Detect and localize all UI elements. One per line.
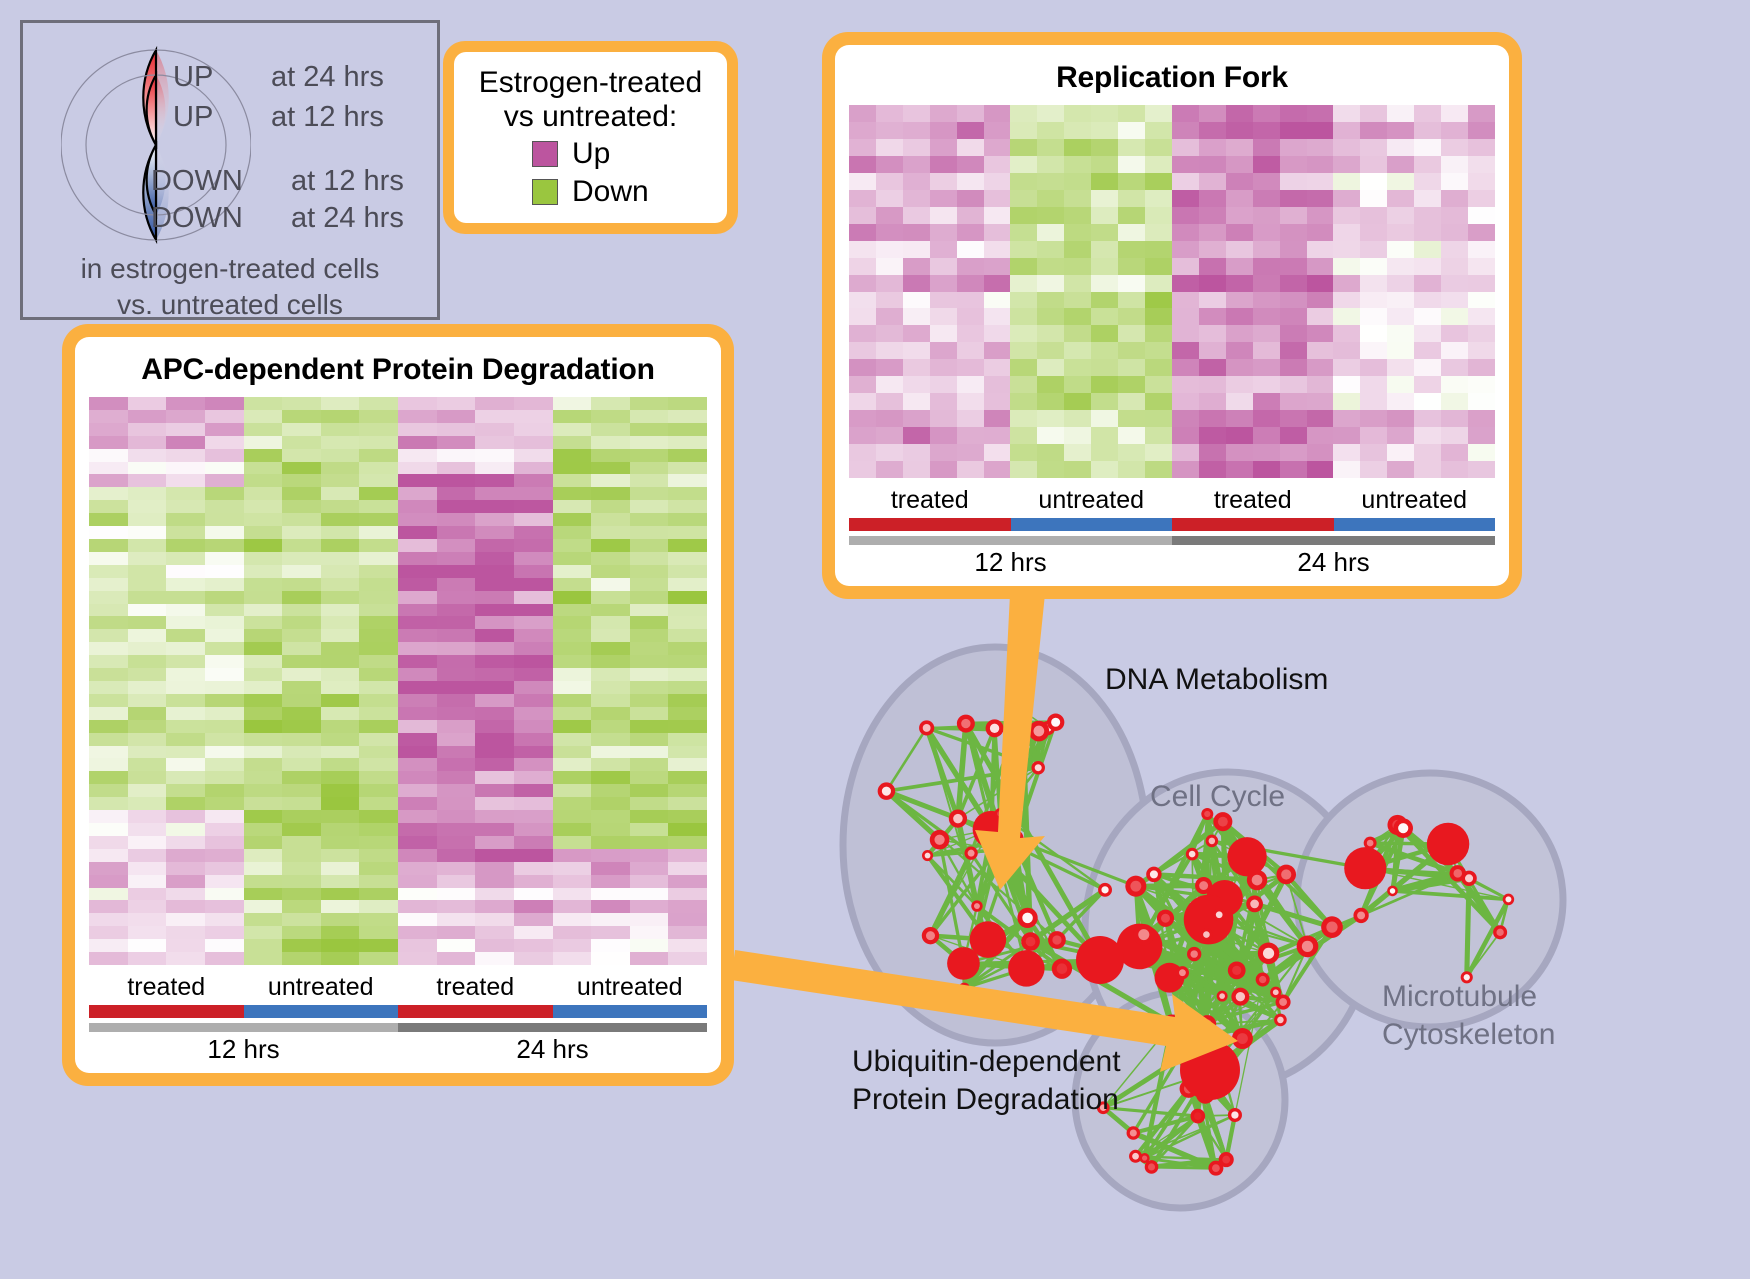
heatmap-cell: [876, 105, 903, 122]
node-inner-core: [1203, 1019, 1212, 1028]
network-node[interactable]: [957, 715, 975, 733]
network-node[interactable]: [1008, 950, 1044, 986]
network-node[interactable]: [1393, 818, 1413, 838]
heatmap-cell: [1172, 224, 1199, 241]
node-inner-core: [1250, 900, 1259, 909]
network-node[interactable]: [1181, 1016, 1199, 1034]
heatmap-cell: [1280, 224, 1307, 241]
node-inner-core: [1281, 869, 1291, 879]
heatmap-cell: [166, 849, 205, 862]
heatmap-cell: [668, 746, 707, 759]
node-inner-core: [1398, 823, 1408, 833]
node-inner-core: [1222, 1156, 1230, 1164]
heatmap-cell: [128, 462, 167, 475]
heatmap-cell: [282, 926, 321, 939]
heatmap-cell: [1414, 258, 1441, 275]
heatmap-cell: [1037, 292, 1064, 309]
heatmap-cell: [903, 224, 930, 241]
heatmap-cell: [1199, 461, 1226, 478]
heatmap-cell: [1145, 325, 1172, 342]
heatmap-cell: [244, 784, 283, 797]
network-node[interactable]: [964, 847, 977, 860]
heatmap-cell: [553, 591, 592, 604]
network-node[interactable]: [994, 808, 1005, 819]
heatmap-cell: [668, 952, 707, 965]
heatmap-cell: [398, 720, 437, 733]
heatmap-cell: [1333, 139, 1360, 156]
heatmap-cell: [1226, 342, 1253, 359]
heatmap-cell: [475, 513, 514, 526]
heatmap-cell: [930, 173, 957, 190]
heatmap-cell: [437, 758, 476, 771]
heatmap-cell: [668, 436, 707, 449]
heatmap-cell: [475, 875, 514, 888]
heatmap-cell: [359, 591, 398, 604]
heatmap-cell: [1280, 139, 1307, 156]
heatmap-cell: [1441, 427, 1468, 444]
network-node[interactable]: [1052, 959, 1072, 979]
network-node[interactable]: [1145, 1160, 1159, 1174]
heatmap-cell: [244, 462, 283, 475]
heatmap-cell: [1010, 444, 1037, 461]
heatmap-cell: [553, 474, 592, 487]
network-node[interactable]: [1014, 702, 1030, 718]
heatmap-cell: [89, 616, 128, 629]
condition-bar-treated-12: [89, 1005, 244, 1018]
heatmap-cell: [1307, 461, 1334, 478]
heatmap-cell: [1441, 173, 1468, 190]
network-node[interactable]: [1021, 932, 1040, 951]
heatmap-cell: [1010, 207, 1037, 224]
heatmap-cell: [553, 552, 592, 565]
heatmap-cell: [359, 810, 398, 823]
heatmap-cell: [553, 797, 592, 810]
network-node[interactable]: [1232, 1028, 1253, 1049]
heatmap-cell: [1360, 308, 1387, 325]
heatmap-cell: [591, 668, 630, 681]
heatmap-cell: [1199, 308, 1226, 325]
network-node[interactable]: [1364, 837, 1377, 850]
heatmap-cell: [984, 241, 1011, 258]
heatmap-cell: [475, 900, 514, 913]
heatmap-cell: [1064, 122, 1091, 139]
network-node[interactable]: [1427, 823, 1469, 865]
network-node[interactable]: [1133, 924, 1154, 945]
network-node[interactable]: [1213, 812, 1232, 831]
heatmap-cell: [282, 526, 321, 539]
network-node[interactable]: [1344, 847, 1386, 889]
network-node[interactable]: [1047, 714, 1064, 731]
heatmap-cell: [128, 758, 167, 771]
network-node[interactable]: [1048, 931, 1066, 949]
heatmap-cell: [957, 122, 984, 139]
heatmap-cell: [282, 694, 321, 707]
network-node[interactable]: [1258, 943, 1280, 965]
heatmap-cell: [1226, 325, 1253, 342]
heatmap-cell: [475, 539, 514, 552]
heatmap-cell: [1280, 461, 1307, 478]
network-node[interactable]: [1127, 1126, 1141, 1140]
heatmap-cell: [514, 462, 553, 475]
network-node[interactable]: [1353, 908, 1368, 923]
heatmap-cell: [1414, 105, 1441, 122]
heatmap-cell: [1307, 156, 1334, 173]
heatmap-cell: [359, 604, 398, 617]
heatmap-cell: [475, 862, 514, 875]
heatmap-cell: [475, 449, 514, 462]
heatmap-cell: [359, 771, 398, 784]
network-node[interactable]: [1076, 936, 1124, 984]
heatmap-cell: [984, 122, 1011, 139]
heatmap-cell: [630, 629, 669, 642]
network-node[interactable]: [1157, 910, 1174, 927]
heatmap-cell: [1199, 275, 1226, 292]
network-node[interactable]: [1031, 761, 1044, 774]
heatmap-cell: [244, 513, 283, 526]
heatmap-cell: [244, 616, 283, 629]
heatmap-cell: [1414, 207, 1441, 224]
heatmap-cell: [1307, 275, 1334, 292]
heatmap-cell: [1333, 190, 1360, 207]
heatmap-cell: [957, 292, 984, 309]
heatmap-cell: [244, 875, 283, 888]
node-inner-core: [1018, 706, 1026, 714]
network-node[interactable]: [930, 830, 950, 850]
heatmap-cell: [398, 707, 437, 720]
heatmap-cell: [128, 694, 167, 707]
heatmap-cell: [1010, 139, 1037, 156]
heatmap-cell: [282, 875, 321, 888]
network-node[interactable]: [1256, 973, 1270, 987]
network-node[interactable]: [1146, 867, 1161, 882]
timepoint-label-24hrs: 24 hrs: [398, 1034, 707, 1065]
heatmap-cell: [514, 862, 553, 875]
heatmap-cell: [205, 888, 244, 901]
heatmap-cell: [128, 449, 167, 462]
network-node[interactable]: [1247, 870, 1267, 890]
network-node[interactable]: [1029, 721, 1050, 742]
heatmap-cell: [1145, 376, 1172, 393]
heatmap-cell: [166, 810, 205, 823]
heatmap-cell: [849, 325, 876, 342]
node-inner-core: [997, 811, 1003, 817]
heatmap-cell: [1091, 258, 1118, 275]
heatmap-cell: [282, 655, 321, 668]
heatmap-cell: [1307, 173, 1334, 190]
network-node[interactable]: [1276, 865, 1296, 885]
heatmap-cell: [630, 604, 669, 617]
network-node[interactable]: [1187, 947, 1201, 961]
heatmap-cell: [630, 758, 669, 771]
network-node[interactable]: [1207, 1028, 1219, 1040]
heatmap-cell: [205, 668, 244, 681]
heatmap-cell: [398, 862, 437, 875]
network-node[interactable]: [1195, 877, 1212, 894]
heatmap-cell: [553, 500, 592, 513]
heatmap-cell: [205, 474, 244, 487]
heatmap-cell: [514, 474, 553, 487]
heatmap-cell: [166, 952, 205, 965]
heatmap-cell: [89, 487, 128, 500]
network-node[interactable]: [1213, 908, 1226, 921]
network-node[interactable]: [1246, 896, 1263, 913]
legend-item-up-label: Up: [572, 137, 610, 171]
node-inner-core: [990, 724, 999, 733]
heatmap-cell: [166, 720, 205, 733]
network-node[interactable]: [1270, 987, 1281, 998]
heatmap-cell: [128, 939, 167, 952]
heatmap-cell: [128, 668, 167, 681]
network-node[interactable]: [1387, 886, 1398, 897]
heatmap-cell: [1010, 427, 1037, 444]
heatmap-cell: [553, 462, 592, 475]
heatmap-cell: [1253, 190, 1280, 207]
heatmap-cell: [437, 797, 476, 810]
heatmap-cell: [282, 797, 321, 810]
heatmap-cell: [244, 397, 283, 410]
heatmap-cell: [1037, 275, 1064, 292]
heatmap-cell: [205, 513, 244, 526]
heatmap-apc-dependent-protein-degradation: [89, 397, 707, 965]
heatmap-cell: [1091, 224, 1118, 241]
heatmap-cell: [1064, 410, 1091, 427]
heatmap-cell: [1280, 207, 1307, 224]
network-node[interactable]: [1227, 837, 1266, 876]
heatmap-cell: [282, 939, 321, 952]
heatmap-cell: [437, 849, 476, 862]
heatmap-cell: [1010, 410, 1037, 427]
network-node[interactable]: [1503, 894, 1514, 905]
node-inner-core: [1219, 993, 1225, 999]
heatmap-cell: [1387, 308, 1414, 325]
heatmap-cell: [553, 849, 592, 862]
heatmap-cell: [1333, 427, 1360, 444]
heatmap-cell: [205, 655, 244, 668]
heatmap-cell: [668, 900, 707, 913]
heatmap-cell: [668, 681, 707, 694]
heatmap-cell: [1307, 224, 1334, 241]
heatmap-cell: [437, 952, 476, 965]
network-node[interactable]: [1219, 1152, 1234, 1167]
timepoint-color-bar-replication-fork: [849, 536, 1495, 545]
network-node[interactable]: [1186, 848, 1199, 861]
network-node[interactable]: [1098, 883, 1112, 897]
heatmap-cell: [244, 578, 283, 591]
heatmap-cell: [475, 823, 514, 836]
network-node[interactable]: [1017, 908, 1037, 928]
heatmap-cell: [591, 513, 630, 526]
network-node[interactable]: [1163, 1014, 1181, 1032]
heatmap-cell: [437, 913, 476, 926]
heatmap-cell: [930, 258, 957, 275]
network-node[interactable]: [1231, 988, 1249, 1006]
network-node[interactable]: [1297, 935, 1319, 957]
heatmap-cell: [630, 539, 669, 552]
network-node[interactable]: [1217, 991, 1228, 1002]
heatmap-cell: [1118, 224, 1145, 241]
heatmap-cell: [1010, 156, 1037, 173]
heatmap-cell: [205, 771, 244, 784]
heatmap-cell: [244, 810, 283, 823]
heatmap-cell: [1387, 427, 1414, 444]
heatmap-cell: [1037, 224, 1064, 241]
heatmap-cell: [1280, 122, 1307, 139]
heatmap-cell: [984, 275, 1011, 292]
heatmap-cell: [282, 552, 321, 565]
heatmap-cell: [128, 784, 167, 797]
heatmap-cell: [984, 258, 1011, 275]
heatmap-cell: [437, 939, 476, 952]
heatmap-cell: [1307, 190, 1334, 207]
heatmap-cell: [1037, 308, 1064, 325]
heatmap-cell: [668, 500, 707, 513]
network-node[interactable]: [1176, 966, 1189, 979]
heatmap-cell: [1091, 359, 1118, 376]
network-node[interactable]: [1493, 925, 1507, 939]
heatmap-cell: [668, 642, 707, 655]
heatmap-cell: [591, 436, 630, 449]
heatmap-cell: [1360, 427, 1387, 444]
condition-labels-replication-fork: treated untreated treated untreated: [849, 486, 1495, 515]
heatmap-cell: [668, 397, 707, 410]
network-node[interactable]: [1003, 829, 1023, 849]
node-inner-core: [1179, 969, 1186, 976]
heatmap-cell: [1387, 461, 1414, 478]
heatmap-cell: [282, 604, 321, 617]
network-node[interactable]: [922, 850, 933, 861]
heatmap-cell: [1199, 393, 1226, 410]
heatmap-cell: [437, 875, 476, 888]
heatmap-cell: [89, 642, 128, 655]
network-node[interactable]: [1206, 835, 1219, 848]
heatmap-cell: [849, 139, 876, 156]
heatmap-cell: [930, 224, 957, 241]
heatmap-cell: [166, 655, 205, 668]
heatmap-cell: [984, 461, 1011, 478]
network-node[interactable]: [878, 782, 896, 800]
network-node[interactable]: [1180, 1040, 1240, 1100]
node-inner-core: [1190, 950, 1197, 957]
heatmap-cell: [321, 862, 360, 875]
network-node[interactable]: [1200, 928, 1213, 941]
heatmap-cell: [89, 578, 128, 591]
heatmap-cell: [1387, 292, 1414, 309]
network-node[interactable]: [1321, 916, 1343, 938]
heatmap-cell: [282, 436, 321, 449]
heatmap-cell: [89, 397, 128, 410]
network-node[interactable]: [1129, 1150, 1142, 1163]
network-node[interactable]: [970, 921, 1007, 958]
heatmap-cell: [1091, 410, 1118, 427]
network-node[interactable]: [1274, 1014, 1287, 1027]
network-node[interactable]: [1125, 876, 1146, 897]
heatmap-cell: [1037, 325, 1064, 342]
network-node[interactable]: [1190, 1109, 1205, 1124]
heatmap-cell: [89, 952, 128, 965]
heatmap-cell: [1253, 241, 1280, 258]
heatmap-cell: [1280, 258, 1307, 275]
heatmap-cell: [359, 565, 398, 578]
heatmap-cell: [321, 746, 360, 759]
heatmap-cell: [1226, 275, 1253, 292]
heatmap-cell: [984, 427, 1011, 444]
heatmap-cell: [437, 642, 476, 655]
heatmap-cell: [205, 500, 244, 513]
node-inner-core: [1051, 718, 1060, 727]
heatmap-cell: [1333, 241, 1360, 258]
heatmap-cell: [89, 784, 128, 797]
heatmap-cell: [553, 888, 592, 901]
heatmap-cell: [1253, 359, 1280, 376]
network-node[interactable]: [971, 900, 982, 911]
network-node[interactable]: [949, 809, 967, 827]
down-color-swatch: [532, 179, 558, 205]
heatmap-cell: [1253, 105, 1280, 122]
heatmap-cell: [1360, 139, 1387, 156]
heatmap-cell: [668, 578, 707, 591]
heatmap-cell: [984, 376, 1011, 393]
heatmap-cell: [1441, 461, 1468, 478]
heatmap-cell: [205, 578, 244, 591]
network-node[interactable]: [922, 927, 939, 944]
network-node[interactable]: [1228, 1108, 1242, 1122]
heatmap-cell: [1226, 105, 1253, 122]
heatmap-cell: [128, 888, 167, 901]
heatmap-cell: [514, 397, 553, 410]
heatmap-cell: [591, 849, 630, 862]
heatmap-cell: [359, 733, 398, 746]
heatmap-cell: [553, 784, 592, 797]
heatmap-cell: [437, 823, 476, 836]
heatmap-cell: [1360, 342, 1387, 359]
updown-legend-header-line2: vs untreated:: [470, 100, 711, 134]
heatmap-cell: [321, 926, 360, 939]
heatmap-cell: [1064, 156, 1091, 173]
heatmap-cell: [630, 655, 669, 668]
heatmap-cell: [591, 397, 630, 410]
network-node[interactable]: [986, 719, 1004, 737]
heatmap-cell: [128, 900, 167, 913]
heatmap-cell: [244, 849, 283, 862]
heatmap-cell: [553, 604, 592, 617]
heatmap-cell: [244, 707, 283, 720]
heatmap-cell: [630, 668, 669, 681]
heatmap-cell: [514, 707, 553, 720]
heatmap-cell: [514, 578, 553, 591]
network-node[interactable]: [1450, 865, 1466, 881]
heatmap-cell: [475, 616, 514, 629]
heatmap-cell: [1037, 410, 1064, 427]
heatmap-replication-fork: [849, 105, 1495, 478]
network-node[interactable]: [1228, 961, 1246, 979]
heatmap-cell: [282, 616, 321, 629]
heatmap-cell: [553, 771, 592, 784]
heatmap-cell: [984, 325, 1011, 342]
heatmap-cell: [876, 308, 903, 325]
heatmap-cell: [1118, 122, 1145, 139]
heatmap-cell: [1091, 139, 1118, 156]
heatmap-cell: [282, 900, 321, 913]
heatmap-cell: [1172, 342, 1199, 359]
heatmap-cell: [1253, 308, 1280, 325]
heatmap-cell: [1360, 376, 1387, 393]
network-node[interactable]: [919, 720, 934, 735]
network-node[interactable]: [959, 983, 970, 994]
heatmap-cell: [553, 875, 592, 888]
heatmap-cell: [437, 449, 476, 462]
heatmap-cell: [1118, 207, 1145, 224]
heatmap-cell: [89, 707, 128, 720]
